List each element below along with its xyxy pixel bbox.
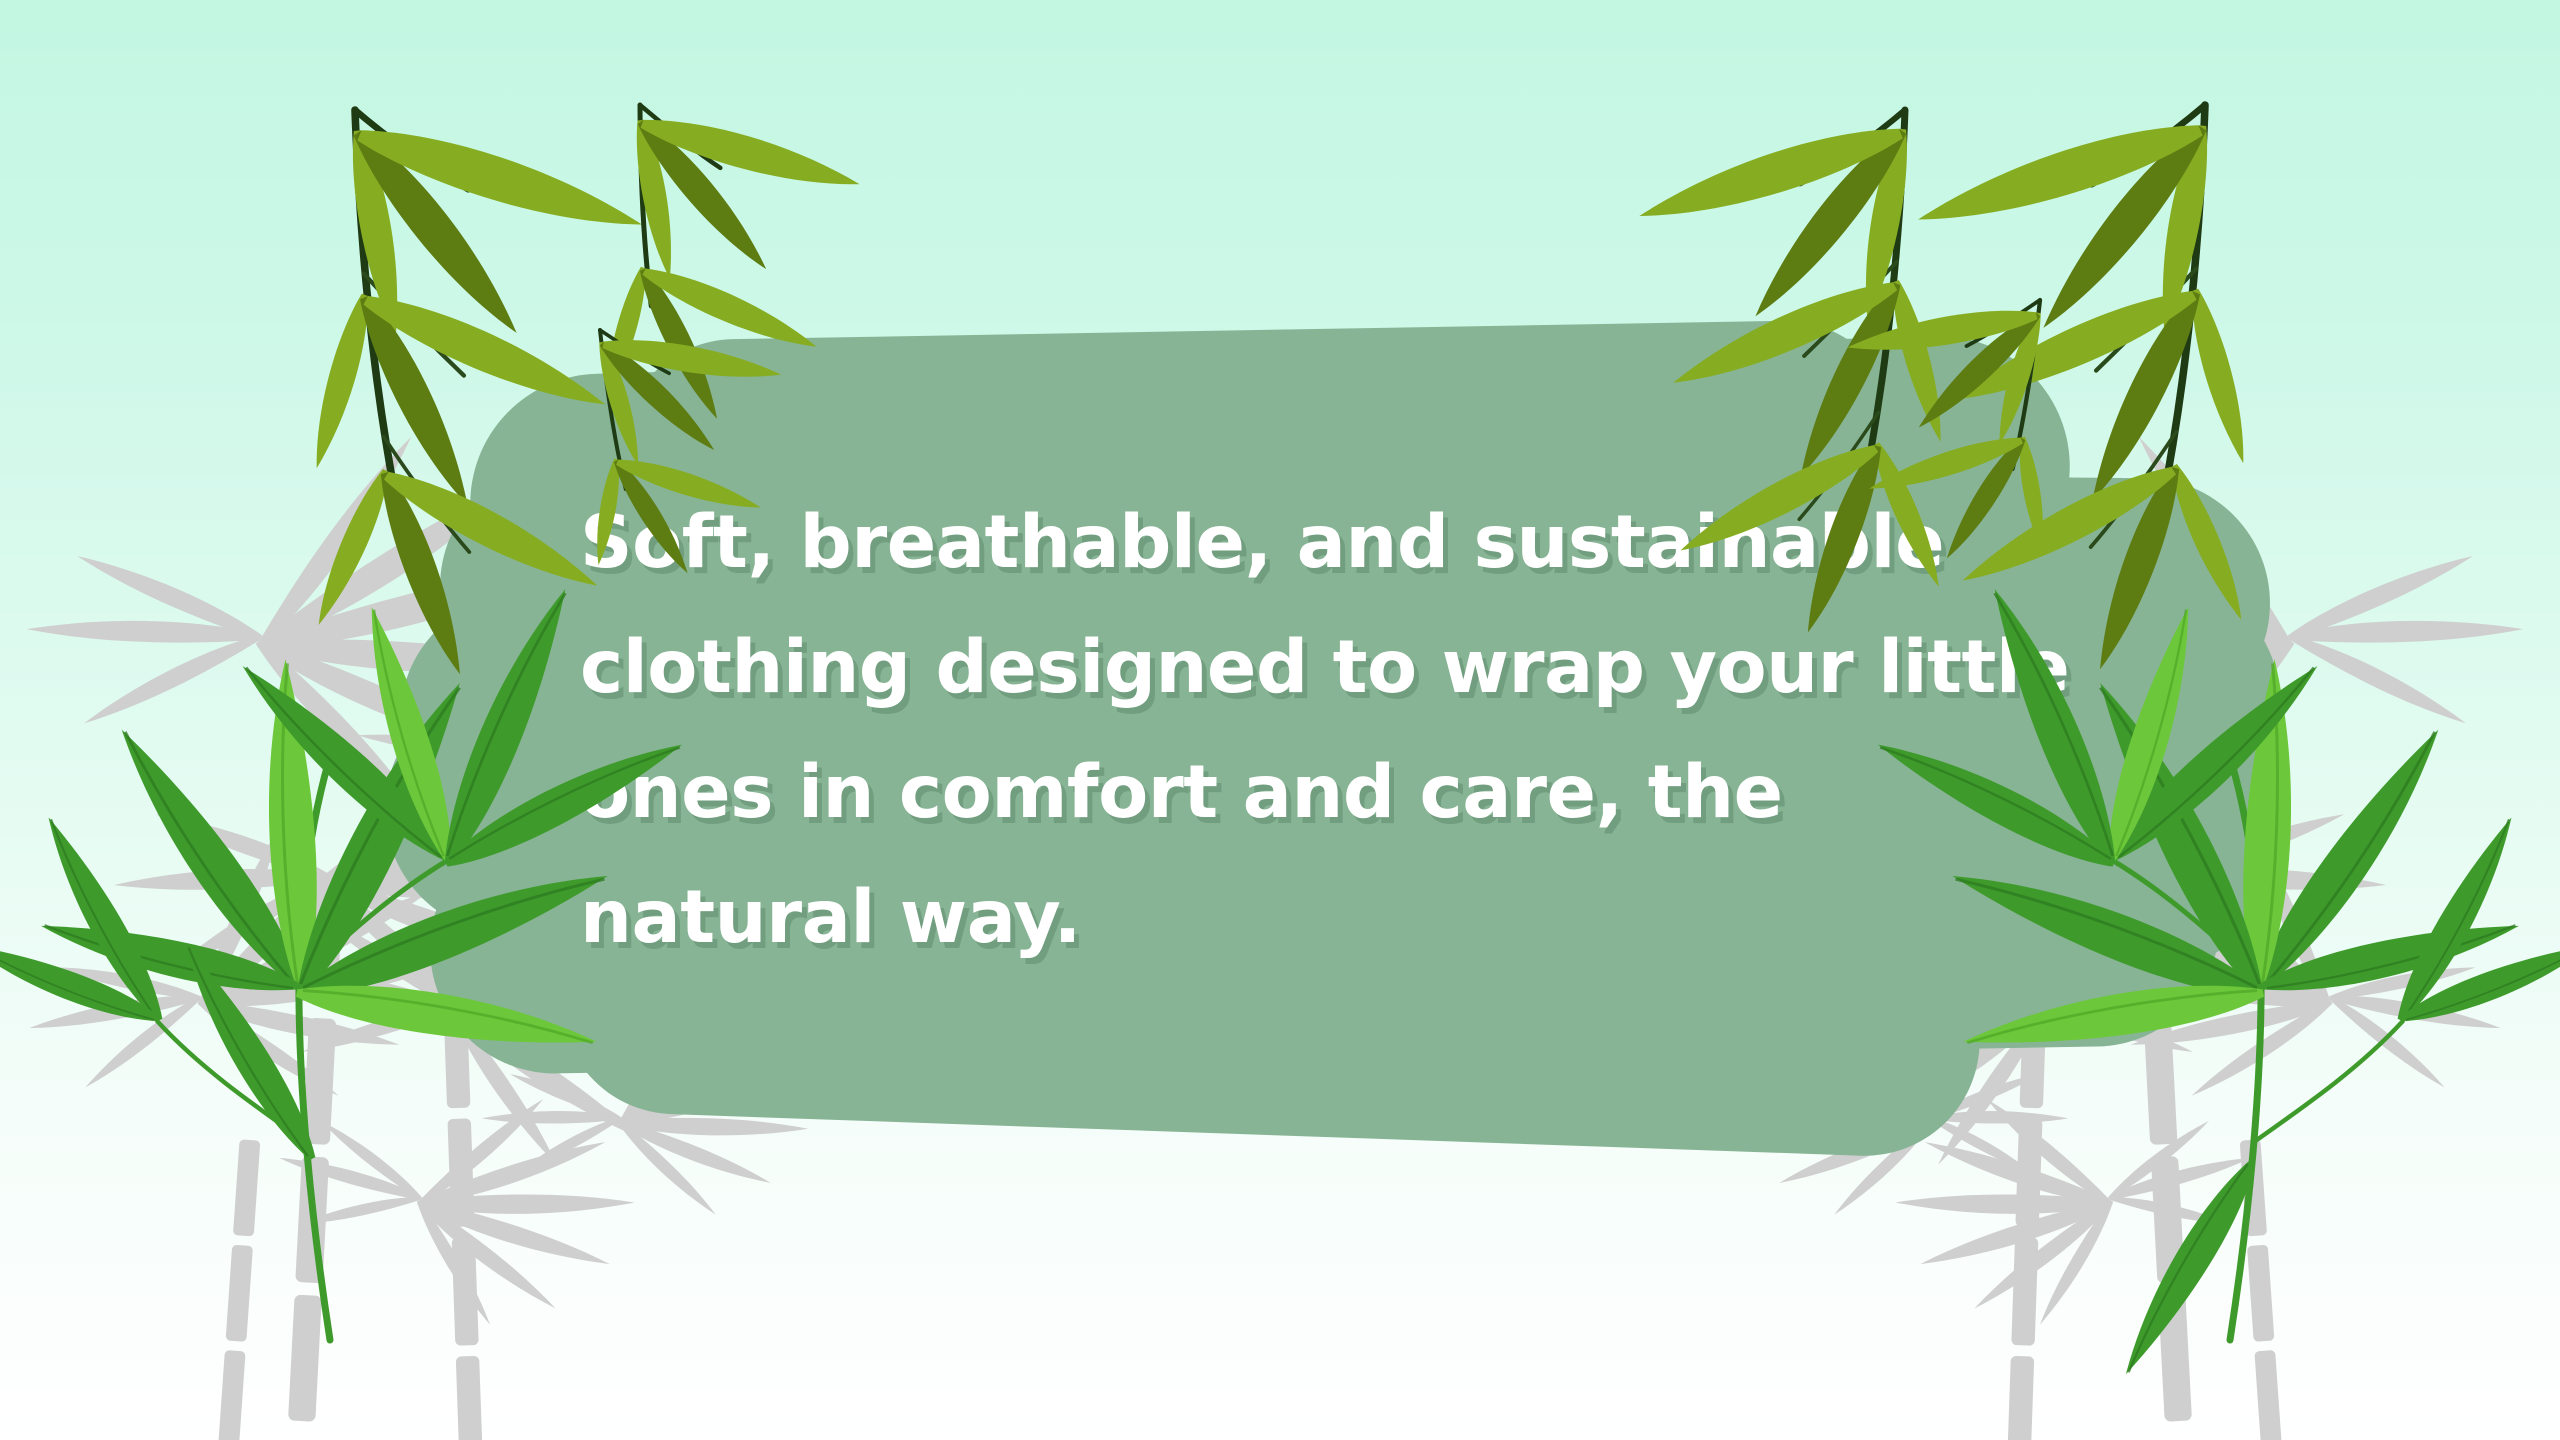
bamboo-bottom-branches-layer: [0, 0, 2560, 1440]
poster-canvas: Soft, breathable, and sustainable clothi…: [0, 0, 2560, 1440]
bamboo-branch-bottom-left: [0, 574, 730, 1364]
bamboo-branch-bottom-right: [1830, 574, 2560, 1386]
